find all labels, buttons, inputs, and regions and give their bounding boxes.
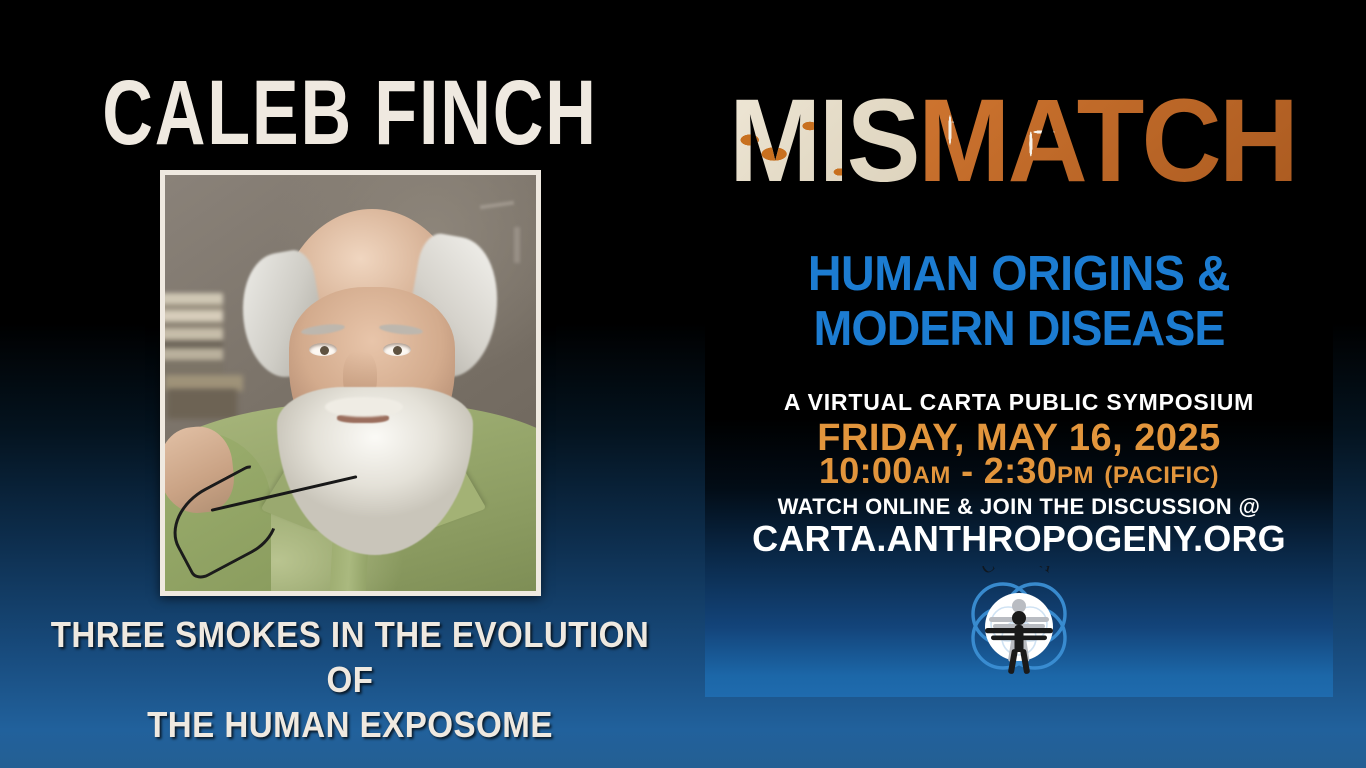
portrait-pupil-right — [393, 346, 402, 355]
presentation-slide: CALEB FINCH — [0, 0, 1366, 768]
poster-eyebrow: A VIRTUAL CARTA PUBLIC SYMPOSIUM — [705, 389, 1333, 416]
poster-subtitle-line-2: MODERN DISEASE — [721, 305, 1318, 354]
portrait-chalkboard-mark — [514, 227, 520, 263]
time-end-suffix: PM — [1057, 462, 1094, 489]
portrait-pupil-left — [320, 346, 329, 355]
speaker-name: CALEB FINCH — [35, 66, 665, 158]
symposium-poster: MISMATCH HUMAN ORIGINS & MODERN DISEASE … — [705, 0, 1333, 697]
time-end: 2:30 — [984, 450, 1057, 491]
portrait-moustache — [325, 397, 403, 417]
time-zone: (PACIFIC) — [1104, 462, 1219, 489]
poster-website[interactable]: CARTA.ANTHROPOGENY.ORG — [705, 518, 1333, 560]
poster-title: MISMATCH — [705, 82, 1333, 200]
talk-title-line-1: THREE SMOKES IN THE EVOLUTION OF — [51, 614, 650, 700]
portrait-books — [165, 293, 223, 377]
poster-title-match: MATCH — [918, 82, 1296, 200]
time-dash: - — [961, 450, 973, 491]
carta-logo-wordmark: CARTA — [978, 566, 1060, 578]
talk-title: THREE SMOKES IN THE EVOLUTION OF THE HUM… — [28, 612, 672, 747]
time-start-suffix: AM — [913, 462, 951, 489]
portrait-shelf — [167, 389, 237, 419]
poster-time: 10:00AM - 2:30PM (PACIFIC) — [705, 452, 1333, 495]
poster-subtitle: HUMAN ORIGINS & MODERN DISEASE — [705, 250, 1333, 354]
poster-title-mis: MIS — [730, 82, 919, 200]
time-start: 10:00 — [819, 450, 913, 491]
poster-subtitle-line-1: HUMAN ORIGINS & — [721, 250, 1318, 299]
carta-logo-icon: CARTA — [963, 566, 1075, 678]
speaker-portrait-frame — [160, 170, 541, 596]
speaker-panel: CALEB FINCH — [0, 0, 700, 768]
poster-watch-instruction: WATCH ONLINE & JOIN THE DISCUSSION @ — [705, 494, 1333, 520]
speaker-portrait-image — [165, 175, 536, 591]
talk-title-line-2: THE HUMAN EXPOSOME — [147, 704, 553, 745]
